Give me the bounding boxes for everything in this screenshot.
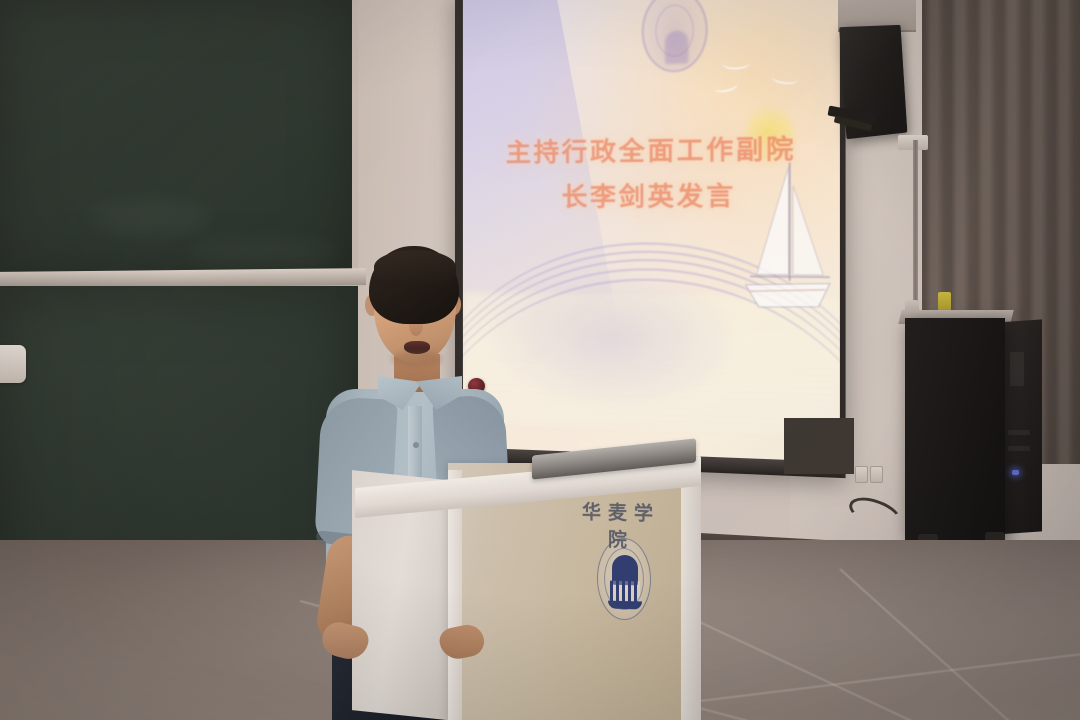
slide-seagull-icon [713,78,739,95]
wall-outlet-plate[interactable] [870,466,883,483]
slide-seagull-icon [722,56,750,70]
projection-screen: 主持行政全面工作副院 长李剑英发言 [455,0,846,478]
podium-right-edge [681,463,701,720]
rack-power-led-icon [1012,470,1019,475]
rack-vent-slot [1008,446,1030,451]
presenter-chin-shadow [391,351,443,367]
slide-school-crest-watermark [642,0,708,73]
photo-scene: 主持行政全面工作副院 长李剑英发言 [0,0,1080,720]
right-whiteboard-edge [784,418,854,474]
rack-vent-slot [1008,430,1030,435]
av-equipment-rack [905,318,1005,540]
crest-gate-dome [612,555,638,586]
slide-seagull-icon [771,70,799,86]
podium-institution-text: 华麦学院 [573,497,669,554]
shirt-button [413,442,419,448]
slide-crest-core [665,30,688,64]
chalk-smudge [90,200,210,234]
chalk-tray-holder-icon [0,345,26,383]
crest-gate-columns [610,581,640,604]
rack-vent-slot [1010,352,1024,386]
crest-gate-base [608,601,642,610]
green-chalkboard-upper [0,0,352,278]
slide-surface: 主持行政全面工作副院 长李剑英发言 [463,0,840,463]
wall-outlet-plate[interactable] [855,466,868,483]
slide-sailboat-icon [735,156,837,327]
presenter-hair-fringe [374,250,456,284]
